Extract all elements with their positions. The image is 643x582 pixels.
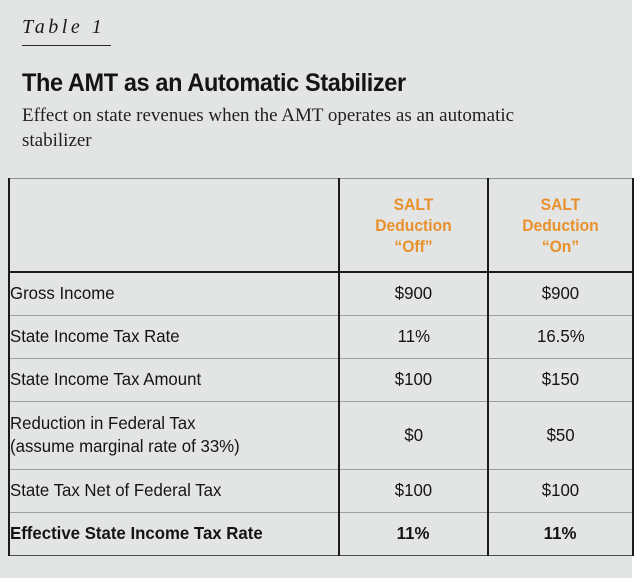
row-value-off-text: $100	[395, 369, 432, 390]
column-header-salt-on-line1: SALT	[495, 194, 627, 215]
column-header-label	[9, 179, 339, 273]
table-header: SALT Deduction “Off” SALT Deduction “On”	[9, 179, 633, 273]
table-body: Gross Income $900 $900 State Income Tax …	[9, 272, 633, 555]
table-container: SALT Deduction “Off” SALT Deduction “On”	[8, 178, 632, 556]
row-value-off-text: $900	[395, 283, 432, 304]
row-label: Effective State Income Tax Rate	[9, 512, 339, 555]
row-label: Reduction in Federal Tax (assume margina…	[9, 401, 339, 469]
figure-header: Table 1 The AMT as an Automatic Stabiliz…	[22, 14, 622, 153]
row-value-on-text: $150	[542, 369, 579, 390]
row-label-line1: Reduction in Federal Tax	[10, 412, 325, 435]
row-label: State Income Tax Rate	[9, 315, 339, 358]
table-row: Gross Income $900 $900	[9, 272, 633, 315]
row-value-on-text: 11%	[544, 523, 577, 544]
amt-table: SALT Deduction “Off” SALT Deduction “On”	[8, 178, 634, 556]
column-header-salt-on: SALT Deduction “On”	[488, 179, 633, 273]
row-value-on-text: $50	[546, 425, 574, 446]
row-label: State Tax Net of Federal Tax	[9, 469, 339, 512]
column-header-salt-off-line2: Deduction	[346, 215, 481, 236]
table-label: Table 1	[22, 14, 111, 46]
row-value-off-text: 11%	[397, 326, 429, 347]
row-value-off: 11%	[339, 315, 488, 358]
row-value-on: $50	[488, 401, 633, 469]
figure-subtitle: Effect on state revenues when the AMT op…	[22, 103, 522, 153]
row-value-on: $900	[488, 272, 633, 315]
table-row: Reduction in Federal Tax (assume margina…	[9, 401, 633, 469]
row-label-line1: State Income Tax Amount	[10, 368, 325, 391]
row-label-line1: Effective State Income Tax Rate	[10, 522, 325, 545]
table-row: State Tax Net of Federal Tax $100 $100	[9, 469, 633, 512]
table-row: State Income Tax Rate 11% 16.5%	[9, 315, 633, 358]
row-label-line1: State Tax Net of Federal Tax	[10, 479, 325, 502]
row-value-on: $150	[488, 358, 633, 401]
column-header-salt-on-text: SALT Deduction “On”	[495, 194, 627, 257]
column-header-salt-off-line3: “Off”	[346, 236, 481, 257]
row-label-line2: (assume marginal rate of 33%)	[10, 435, 325, 458]
row-value-off: $900	[339, 272, 488, 315]
row-value-on: 11%	[488, 512, 633, 555]
table-row: State Income Tax Amount $100 $150	[9, 358, 633, 401]
row-value-off-text: $100	[395, 480, 432, 501]
column-header-salt-off-text: SALT Deduction “Off”	[346, 194, 481, 257]
row-value-off: $100	[339, 358, 488, 401]
row-label-line1: State Income Tax Rate	[10, 325, 325, 348]
row-label: Gross Income	[9, 272, 339, 315]
row-value-off: $0	[339, 401, 488, 469]
column-header-salt-off-line1: SALT	[346, 194, 481, 215]
row-value-on-text: $100	[542, 480, 579, 501]
row-value-off: $100	[339, 469, 488, 512]
row-value-on: $100	[488, 469, 633, 512]
figure-page: Table 1 The AMT as an Automatic Stabiliz…	[0, 0, 643, 582]
column-header-salt-off: SALT Deduction “Off”	[339, 179, 488, 273]
column-header-salt-on-line2: Deduction	[495, 215, 627, 236]
row-value-on-text: 16.5%	[537, 326, 585, 347]
row-label-line1: Gross Income	[10, 282, 325, 305]
row-value-on: 16.5%	[488, 315, 633, 358]
row-value-off: 11%	[339, 512, 488, 555]
column-header-salt-on-line3: “On”	[495, 236, 627, 257]
row-value-off-text: 11%	[397, 523, 430, 544]
row-value-on-text: $900	[542, 283, 579, 304]
table-row: Effective State Income Tax Rate 11% 11%	[9, 512, 633, 555]
row-value-off-text: $0	[404, 425, 423, 446]
table-header-row: SALT Deduction “Off” SALT Deduction “On”	[9, 179, 633, 273]
page-title: The AMT as an Automatic Stabilizer	[22, 68, 586, 98]
row-label: State Income Tax Amount	[9, 358, 339, 401]
